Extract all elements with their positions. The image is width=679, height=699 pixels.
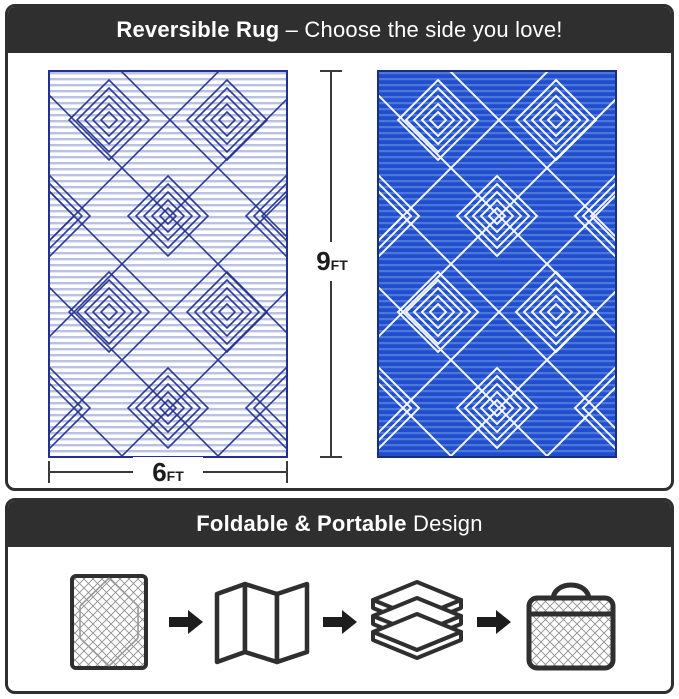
foldable-portable-banner: Foldable & Portable Design xyxy=(8,501,671,547)
product-infographic: Reversible Rug – Choose the side you lov… xyxy=(0,0,679,699)
height-dimension-cap-top xyxy=(320,70,342,72)
height-value: 9 xyxy=(316,246,330,276)
flat-rug-icon xyxy=(66,570,152,674)
bottom-banner-bold-text: Foldable & Portable xyxy=(196,511,406,536)
arrow-right-icon xyxy=(323,609,357,635)
white-side-rug xyxy=(48,70,288,458)
folded-rug-step xyxy=(209,567,317,677)
stacked-rug-icon xyxy=(363,576,471,668)
width-dimension-label: 6FT xyxy=(133,457,203,488)
carry-bag-icon xyxy=(523,570,619,674)
carry-bag-step xyxy=(517,567,625,677)
arrow-right-icon xyxy=(169,609,203,635)
arrow-2 xyxy=(317,567,363,677)
flat-rug-step xyxy=(55,567,163,677)
blue-side-rug-pattern xyxy=(379,72,615,456)
blue-side-rug xyxy=(377,70,617,458)
arrow-right-icon xyxy=(477,609,511,635)
width-value: 6 xyxy=(152,457,166,487)
folded-rug-icon xyxy=(211,576,315,668)
bottom-banner-light-text: Design xyxy=(407,511,483,536)
white-side-rug-pattern xyxy=(50,72,286,456)
foldable-portable-banner-text: Foldable & Portable Design xyxy=(196,511,482,537)
reversible-rug-panel: Reversible Rug – Choose the side you lov… xyxy=(5,4,674,491)
white-rug-pattern-svg xyxy=(50,72,286,456)
arrow-1 xyxy=(163,567,209,677)
width-dimension-cap-right xyxy=(286,461,288,483)
banner-bold-text: Reversible Rug xyxy=(116,17,279,42)
banner-light-text: – Choose the side you love! xyxy=(279,17,562,42)
width-dimension-cap-left xyxy=(48,461,50,483)
height-unit: FT xyxy=(331,257,348,273)
foldable-steps xyxy=(8,547,671,694)
height-dimension-cap-bottom xyxy=(320,456,342,458)
blue-rug-pattern-svg xyxy=(379,72,615,456)
foldable-portable-panel: Foldable & Portable Design xyxy=(5,498,674,694)
arrow-3 xyxy=(471,567,517,677)
height-dimension-label: 9FT xyxy=(306,242,358,281)
reversible-rug-banner-text: Reversible Rug – Choose the side you lov… xyxy=(116,17,562,43)
width-unit: FT xyxy=(167,468,184,484)
stacked-rug-step xyxy=(363,567,471,677)
reversible-rug-banner: Reversible Rug – Choose the side you lov… xyxy=(8,7,671,53)
